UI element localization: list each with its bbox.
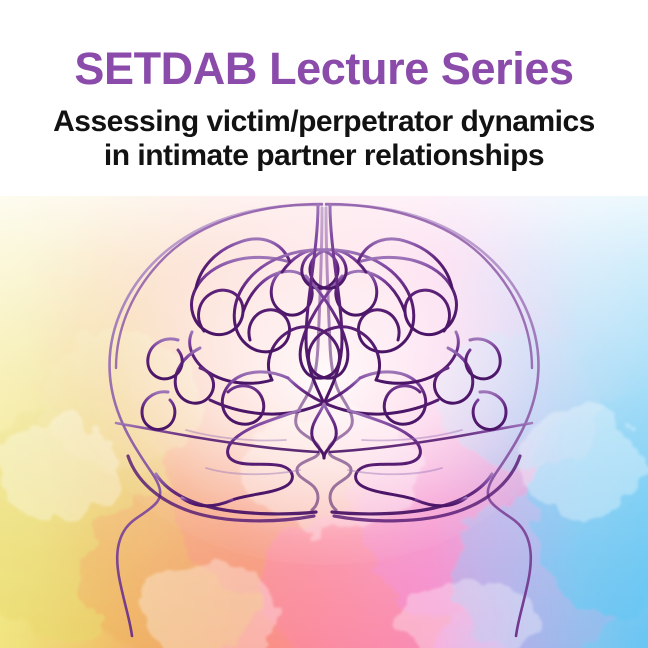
page-subtitle: Assessing victim/perpetrator dynamics in… — [0, 94, 648, 173]
title-bar: SETDAB Lecture Series Assessing victim/p… — [0, 0, 648, 173]
poster-canvas: SETDAB Lecture Series Assessing victim/p… — [0, 0, 648, 648]
page-title: SETDAB Lecture Series — [0, 44, 648, 94]
headline-block: SETDAB Lecture Series Assessing victim/p… — [0, 0, 648, 173]
subtitle-line-2: in intimate partner relationships — [0, 139, 648, 173]
subtitle-line-1: Assessing victim/perpetrator dynamics — [0, 105, 648, 139]
